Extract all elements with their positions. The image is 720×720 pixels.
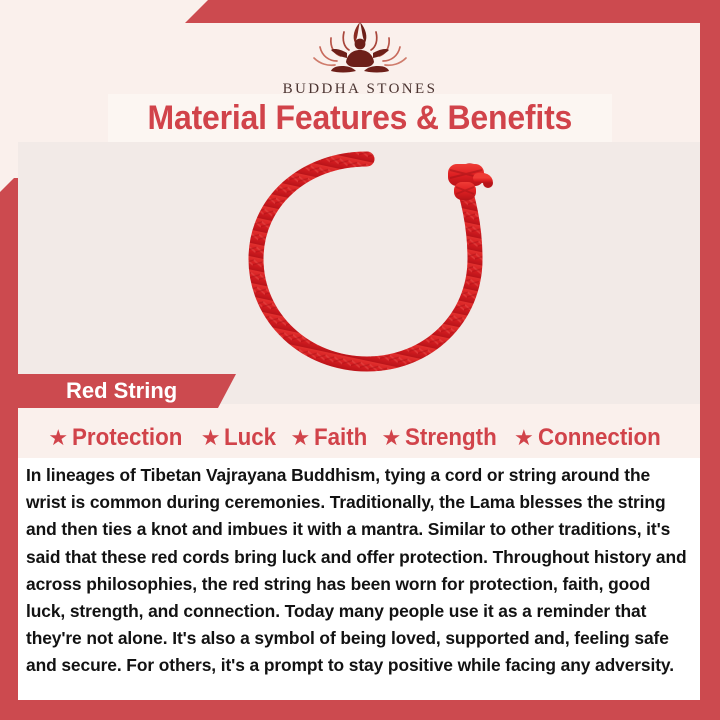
product-name-ribbon: Red String bbox=[18, 374, 236, 408]
benefit-label-protection: Protection bbox=[72, 424, 182, 452]
star-icon: ★ bbox=[514, 427, 534, 449]
star-icon: ★ bbox=[201, 427, 221, 449]
benefits-row: ★ Protection ★ Luck ★ Faith ★ Strength ★… bbox=[18, 420, 700, 456]
frame-right-bar bbox=[700, 0, 720, 712]
frame-left-bar bbox=[0, 178, 18, 712]
description-paragraph: In lineages of Tibetan Vajrayana Buddhis… bbox=[18, 458, 700, 680]
benefit-item: ★ Luck bbox=[201, 424, 281, 452]
benefit-item: ★ Connection bbox=[514, 424, 670, 452]
benefit-item: ★ Protection bbox=[48, 424, 190, 452]
star-icon: ★ bbox=[48, 427, 68, 449]
lotus-meditation-figure-icon bbox=[300, 16, 420, 78]
brand-logo-block: BUDDHA STONES bbox=[0, 16, 720, 98]
product-photo-area bbox=[18, 142, 700, 404]
benefit-label-luck: Luck bbox=[224, 424, 276, 452]
red-braided-string-bracelet bbox=[232, 146, 502, 376]
page-title: Material Features & Benefits bbox=[148, 99, 573, 138]
benefit-label-strength: Strength bbox=[405, 424, 497, 452]
product-name-label: Red String bbox=[66, 378, 177, 404]
frame-bottom-bar bbox=[0, 700, 720, 720]
infographic-page: BUDDHA STONES Material Features & Benefi… bbox=[0, 0, 720, 720]
description-panel: In lineages of Tibetan Vajrayana Buddhis… bbox=[18, 458, 700, 700]
benefit-label-connection: Connection bbox=[538, 424, 661, 452]
title-banner: Material Features & Benefits bbox=[108, 94, 612, 142]
benefit-item: ★ Strength bbox=[382, 424, 504, 452]
benefit-label-faith: Faith bbox=[314, 424, 367, 452]
star-icon: ★ bbox=[382, 427, 402, 449]
benefit-item: ★ Faith bbox=[290, 424, 371, 452]
star-icon: ★ bbox=[290, 427, 310, 449]
